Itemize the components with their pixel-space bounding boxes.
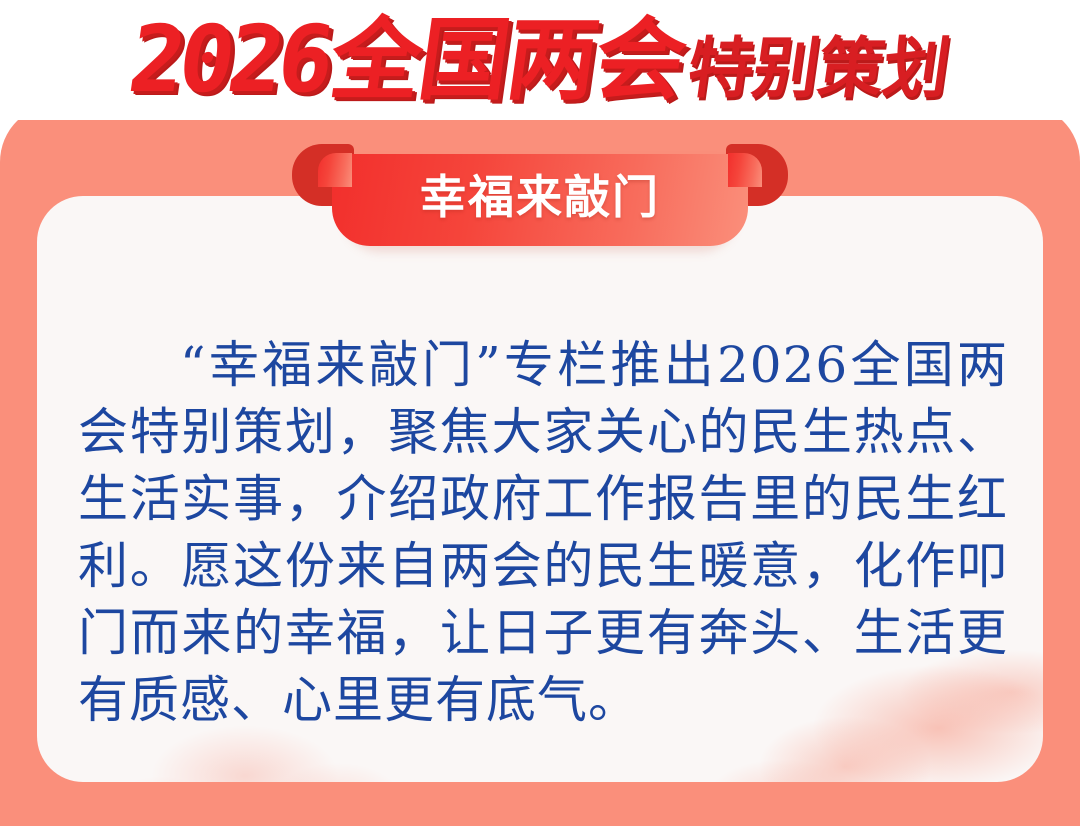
ribbon-header: 幸福来敲门: [292, 144, 788, 254]
headline-inner: 2026 全国两会 特别策划: [124, 14, 956, 106]
headline-subtitle: 特别策划: [684, 36, 953, 102]
headline-year: 2026: [124, 14, 334, 106]
headline-banner: 2026 全国两会 特别策划: [0, 0, 1080, 120]
ribbon-body: 幸福来敲门: [332, 154, 748, 246]
headline-main-title: 全国两会: [325, 16, 690, 106]
ribbon-label: 幸福来敲门: [420, 174, 660, 220]
body-paragraph: “幸福来敲门”专栏推出2026全国两会特别策划，聚焦大家关心的民生热点、生活实事…: [78, 332, 1008, 734]
poster-root: 2026 全国两会 特别策划 幸福来敲门 “幸福来敲门”专栏推出2026全国两会…: [0, 0, 1080, 826]
